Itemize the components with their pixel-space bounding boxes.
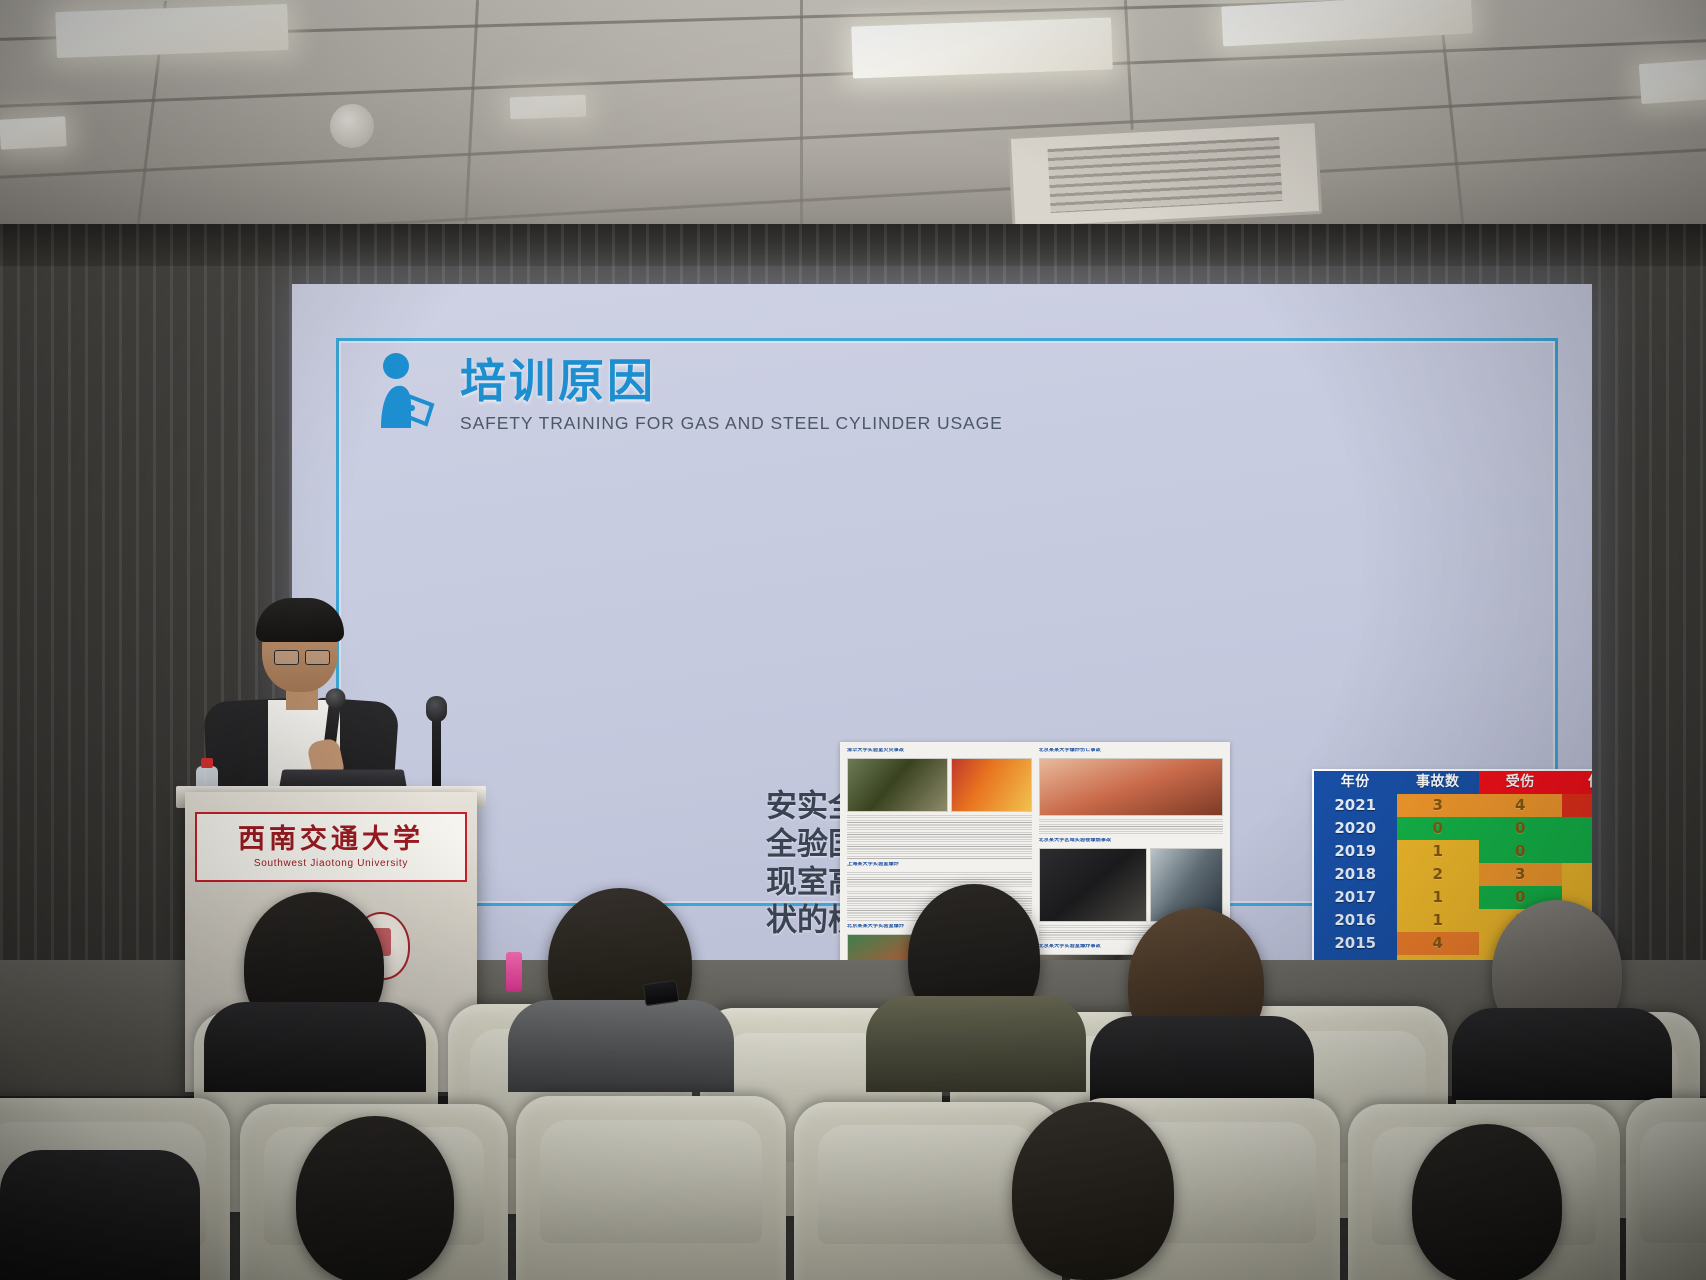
ceiling — [0, 0, 1706, 232]
cell-accidents: 1 — [1397, 840, 1480, 863]
university-name-cn: 西南交通大学 — [238, 826, 424, 853]
cell-injured: 0 — [1479, 817, 1562, 840]
ac-vent — [1008, 120, 1322, 230]
ac-diffuser-icon — [330, 104, 374, 148]
ceiling-light — [1639, 56, 1706, 104]
cell-accidents: 0 — [1397, 817, 1480, 840]
collage-headline: 北京某大学区域实验楼爆燃事故 — [1039, 838, 1224, 845]
col-header-accidents: 事故数 — [1397, 771, 1480, 794]
cell-disabled: 0 — [1562, 817, 1593, 840]
audience-head — [296, 1116, 454, 1280]
cell-year: 2016 — [1314, 909, 1397, 932]
table-row: 2018231 — [1314, 863, 1592, 886]
table-row: 2020000 — [1314, 817, 1592, 840]
cell-disabled: 0 — [1562, 840, 1593, 863]
col-header-injured: 受伤 — [1479, 771, 1562, 794]
col-header-disabled: 伤残 — [1562, 771, 1593, 794]
audience-shoulders — [508, 1000, 734, 1092]
audience-shoulders — [866, 996, 1086, 1092]
audience-shoulders — [0, 1150, 200, 1280]
cell-injured: 0 — [1479, 840, 1562, 863]
pink-marker — [506, 952, 522, 992]
projection-screen: 培训原因 SAFETY TRAINING FOR GAS AND STEEL C… — [292, 284, 1592, 960]
seat — [516, 1096, 786, 1280]
table-row: 2021342 — [1314, 794, 1592, 817]
audience-shoulders — [204, 1002, 426, 1092]
collage-headline: 北京某某大学爆炸伤亡事故 — [1039, 748, 1224, 755]
collage-headline: 上海某大学实验室爆炸 — [847, 862, 1032, 869]
ceiling-light — [55, 4, 288, 58]
col-header-year: 年份 — [1314, 771, 1397, 794]
ceiling-light — [1221, 0, 1473, 47]
cell-year: 2015 — [1314, 932, 1397, 955]
cell-accidents: 1 — [1397, 886, 1480, 909]
slide-title: 培训原因 — [460, 358, 1003, 404]
cell-accidents: 1 — [1397, 909, 1480, 932]
eyeglasses-icon — [274, 650, 330, 663]
audience-head — [1012, 1102, 1174, 1280]
smartphone[interactable] — [643, 980, 680, 1007]
audience-shoulders — [1452, 1008, 1672, 1100]
cell-year: 2021 — [1314, 794, 1397, 817]
slide-header: 培训原因 SAFETY TRAINING FOR GAS AND STEEL C… — [370, 352, 1003, 436]
university-name-en: Southwest Jiaotong University — [254, 858, 408, 869]
ceiling-light — [0, 116, 67, 149]
cell-accidents: 4 — [1397, 932, 1480, 955]
cell-disabled: 1 — [1562, 863, 1593, 886]
podium-nameplate: 西南交通大学 Southwest Jiaotong University — [195, 812, 467, 882]
cell-year: 2018 — [1314, 863, 1397, 886]
audience-head — [1412, 1124, 1562, 1280]
cell-injured: 3 — [1479, 863, 1562, 886]
slide-subtitle: SAFETY TRAINING FOR GAS AND STEEL CYLIND… — [460, 413, 1003, 434]
cell-year: 2020 — [1314, 817, 1397, 840]
table-header-row: 年份 事故数 受伤 伤残 — [1314, 771, 1592, 794]
audience-shoulders — [1090, 1016, 1314, 1104]
ceiling-light — [510, 95, 587, 120]
person-reading-icon — [370, 352, 444, 436]
cell-year: 2017 — [1314, 886, 1397, 909]
seat — [1626, 1098, 1706, 1280]
cell-disabled: 2 — [1562, 794, 1593, 817]
table-row: 2019100 — [1314, 840, 1592, 863]
cell-accidents: 2 — [1397, 863, 1480, 886]
collage-headline: 清华大学实验室火灾事故 — [847, 748, 1032, 755]
cell-injured: 4 — [1479, 794, 1562, 817]
cell-accidents: 3 — [1397, 794, 1480, 817]
ceiling-light — [851, 17, 1113, 78]
cell-year: 2019 — [1314, 840, 1397, 863]
lecture-hall-scene: 培训原因 SAFETY TRAINING FOR GAS AND STEEL C… — [0, 0, 1706, 1280]
